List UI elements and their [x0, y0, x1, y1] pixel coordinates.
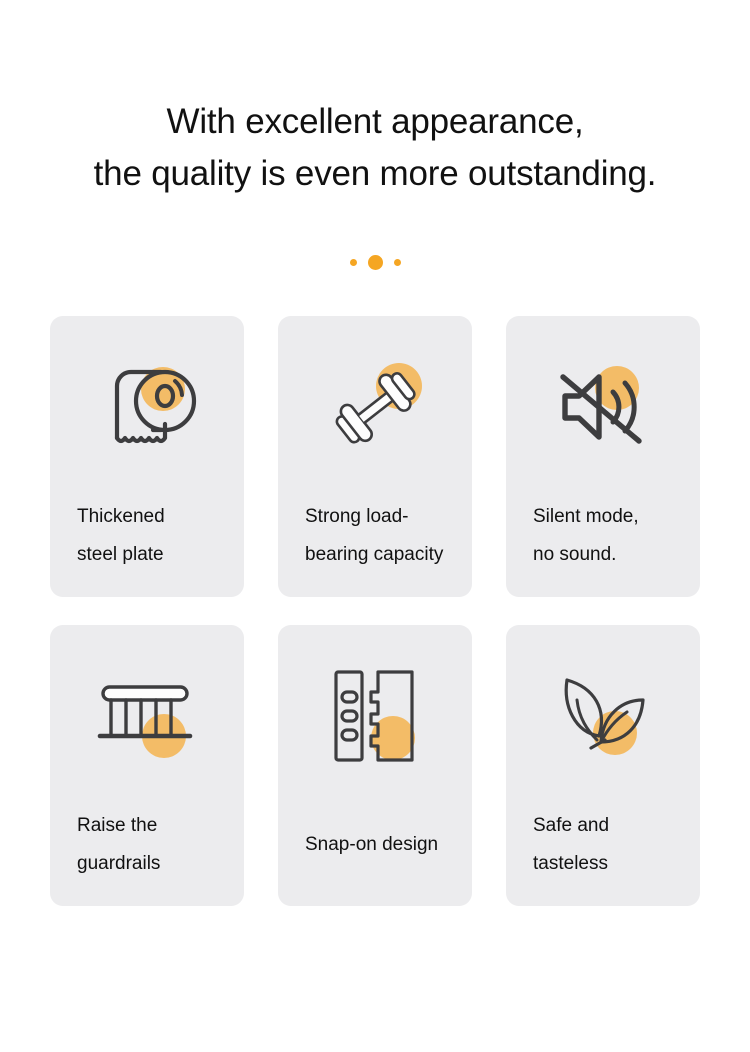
caption-line-1: Thickened [77, 498, 217, 536]
feature-card-safe-tasteless[interactable]: Safe and tasteless [506, 625, 700, 906]
caption-line-2: guardrails [77, 845, 217, 883]
caption-line-1: Strong load- [305, 498, 445, 536]
dots-divider [0, 254, 750, 270]
caption-line-2: steel plate [77, 536, 217, 574]
feature-card-caption: Safe and tasteless [506, 807, 700, 906]
feature-card-caption: Silent mode, no sound. [506, 498, 700, 597]
caption-line-1: Snap-on design [305, 826, 445, 864]
divider-dot-small-right [394, 259, 401, 266]
snap-on-connector-icon [278, 625, 472, 807]
page-title: With excellent appearance, the quality i… [0, 0, 750, 200]
feature-card-guardrails[interactable]: Raise the guardrails [50, 625, 244, 906]
guardrail-icon [50, 625, 244, 807]
headline-line-2: the quality is even more outstanding. [0, 148, 750, 200]
headline-line-1: With excellent appearance, [0, 96, 750, 148]
feature-card-caption: Strong load- bearing capacity [278, 498, 472, 597]
toilet-paper-roll-icon [50, 316, 244, 498]
feature-card-caption: Thickened steel plate [50, 498, 244, 597]
feature-card-snap-on-design[interactable]: Snap-on design [278, 625, 472, 906]
feature-card-caption: Raise the guardrails [50, 807, 244, 906]
caption-line-1: Raise the [77, 807, 217, 845]
caption-line-1: Safe and [533, 807, 673, 845]
divider-dot-large-center [368, 255, 383, 270]
caption-line-1: Silent mode, [533, 498, 673, 536]
speaker-mute-icon [506, 316, 700, 498]
caption-line-2: tasteless [533, 845, 673, 883]
feature-card-thickened-steel-plate[interactable]: Thickened steel plate [50, 316, 244, 597]
dumbbell-icon [278, 316, 472, 498]
divider-dot-small-left [350, 259, 357, 266]
feature-card-caption: Snap-on design [278, 807, 472, 906]
leaves-icon [506, 625, 700, 807]
feature-card-grid: Thickened steel plate [0, 316, 750, 906]
caption-line-2: no sound. [533, 536, 673, 574]
caption-line-2: bearing capacity [305, 536, 445, 574]
feature-card-silent-mode[interactable]: Silent mode, no sound. [506, 316, 700, 597]
feature-card-load-bearing[interactable]: Strong load- bearing capacity [278, 316, 472, 597]
